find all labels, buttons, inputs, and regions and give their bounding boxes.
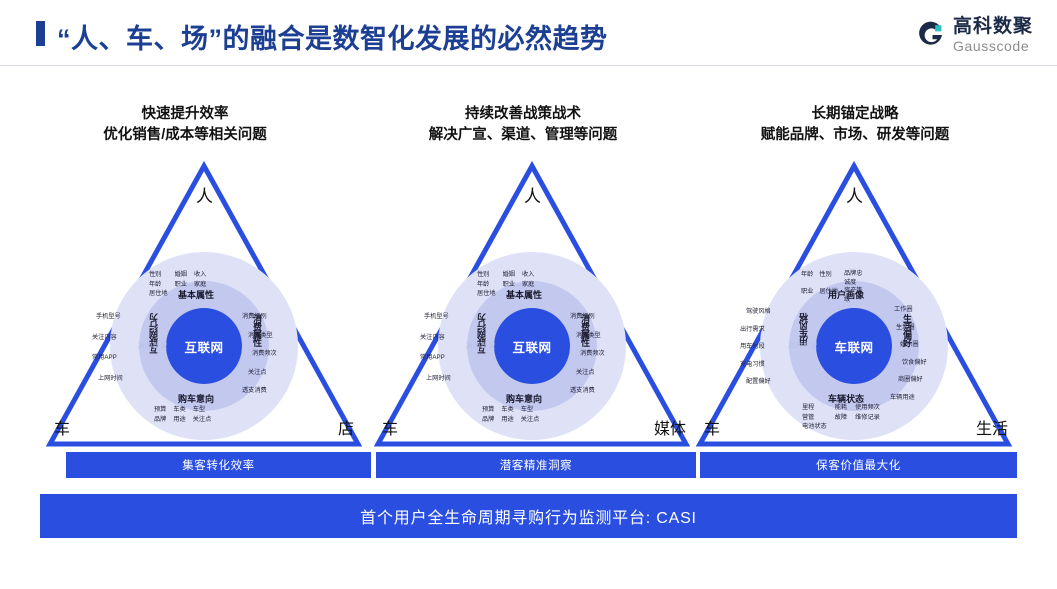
column-heading-1: 快速提升效率 优化销售/成本等相关问题 bbox=[20, 104, 350, 146]
outer-right-2-0: 消费级别 bbox=[570, 312, 605, 322]
outer-left-3-4: 配置偏好 bbox=[746, 377, 771, 387]
sub-bar-2: 潜客精准洞察 bbox=[376, 452, 696, 478]
outer-left-3-2: 用车时段 bbox=[740, 342, 771, 352]
triangle-1-bottom-left-label: 车 bbox=[54, 415, 70, 439]
ring-core-1: 互联网 bbox=[166, 308, 242, 384]
outer-top-1-1: 婚姻 bbox=[175, 270, 187, 280]
core-label-2: 互联网 bbox=[512, 337, 551, 356]
triangle-2-bottom-right-label: 媒体 bbox=[654, 415, 686, 439]
page-title: “人、车、场”的融合是数智化发展的必然趋势 bbox=[57, 17, 608, 56]
triangle-3-bottom-left-label: 车 bbox=[704, 415, 720, 439]
outer-bottom-3-5: 维修记录 bbox=[855, 413, 880, 423]
outer-bottom-2-5: 关注点 bbox=[521, 415, 540, 425]
diagram-panel-3: 人 车 生活 车联网 用户画像 车辆状态 用车风格 生活偏好 高科数聚 年龄 性… bbox=[694, 160, 1014, 450]
outer-top-3-1: 性别 bbox=[819, 270, 838, 287]
column-heading-1-line1: 快速提升效率 bbox=[20, 104, 350, 125]
diagram-panel-2: 人 车 媒体 互联网 基本属性 购车意向 互联网行为 消费属性 高科数聚 性别 … bbox=[372, 160, 692, 450]
column-heading-2-line1: 持续改善战策战术 bbox=[358, 104, 688, 125]
outer-right-3-2: 娱乐圈 bbox=[900, 340, 927, 350]
outer-bottom-labels-1: 预算 车类 车型 品牌 用途 关注点 bbox=[154, 405, 211, 424]
outer-top-labels-2: 性别 婚姻 收入 年龄 职业 家庭 居住地 bbox=[477, 270, 534, 299]
outer-right-1-1: 消费类型 bbox=[248, 331, 277, 341]
triangle-3-bottom-right-label: 生活 bbox=[976, 415, 1008, 439]
platform-banner: 首个用户全生命周期寻购行为监测平台: CASI bbox=[40, 494, 1017, 538]
outer-bottom-1-4: 用途 bbox=[173, 415, 185, 425]
ring-core-3: 车联网 bbox=[816, 308, 892, 384]
outer-top-2-0: 性别 bbox=[477, 270, 496, 280]
outer-bottom-3-1: 能耗 bbox=[835, 403, 847, 413]
triangle-1-apex-label: 人 bbox=[196, 182, 213, 207]
outer-left-3-0: 驾驶风格 bbox=[746, 307, 771, 317]
outer-bottom-2-2: 车型 bbox=[521, 405, 540, 415]
watermark-3: 高科数聚 bbox=[788, 341, 818, 351]
outer-top-3-3: 职业 bbox=[801, 287, 813, 304]
outer-left-2-3: 上网时间 bbox=[426, 374, 451, 384]
column-heading-2: 持续改善战策战术 解决广宣、渠道、管理等问题 bbox=[358, 104, 688, 146]
sub-bar-3: 保客价值最大化 bbox=[700, 452, 1017, 478]
outer-right-3-3: 饮食偏好 bbox=[902, 358, 927, 368]
outer-bottom-3-0: 里程 bbox=[802, 403, 827, 413]
title-bullet-icon bbox=[36, 21, 45, 46]
outer-bottom-3-3: 营管 bbox=[802, 413, 827, 423]
outer-top-3-0: 年龄 bbox=[801, 270, 813, 287]
outer-bottom-1-0: 预算 bbox=[154, 405, 166, 415]
watermark-1: 高科数聚 bbox=[138, 341, 168, 351]
outer-bottom-2-0: 预算 bbox=[482, 405, 494, 415]
brand-logo: 高科数聚 Gausscode bbox=[916, 15, 1033, 55]
ring-bottom-label-1: 购车意向 bbox=[178, 392, 214, 405]
outer-bottom-1-5: 关注点 bbox=[193, 415, 212, 425]
outer-right-labels-2: 消费级别 消费类型 消费频次 关注点 透支消费 bbox=[570, 312, 605, 396]
outer-top-2-5: 家庭 bbox=[522, 280, 534, 290]
outer-left-1-0: 手机型号 bbox=[96, 312, 123, 322]
outer-right-3-5: 车辆用途 bbox=[890, 393, 927, 403]
outer-bottom-labels-2: 预算 车类 车型 品牌 用途 关注点 bbox=[482, 405, 539, 424]
outer-left-1-2: 常用APP bbox=[92, 353, 123, 363]
outer-bottom-2-4: 用途 bbox=[501, 415, 513, 425]
outer-right-1-0: 消费级别 bbox=[242, 312, 277, 322]
outer-top-2-1: 婚姻 bbox=[503, 270, 515, 280]
outer-right-2-2: 消费频次 bbox=[580, 349, 605, 359]
outer-top-3-2: 品牌忠诚度 bbox=[844, 270, 866, 287]
outer-bottom-3-6: 电池状态 bbox=[802, 422, 827, 432]
ring-core-2: 互联网 bbox=[494, 308, 570, 384]
outer-right-1-3: 关注点 bbox=[248, 368, 277, 378]
outer-top-1-3: 年龄 bbox=[149, 280, 168, 290]
header-divider bbox=[0, 65, 1057, 66]
outer-left-labels-1: 手机型号 关注内容 常用APP 上网时间 bbox=[92, 312, 123, 383]
core-label-3: 车联网 bbox=[834, 337, 873, 356]
triangle-2-bottom-left-label: 车 bbox=[382, 415, 398, 439]
outer-top-1-0: 性别 bbox=[149, 270, 168, 280]
page-header: “人、车、场”的融合是数智化发展的必然趋势 高科数聚 Gausscode bbox=[0, 0, 1057, 66]
logo-text-en: Gausscode bbox=[953, 39, 1033, 53]
column-heading-3-line1: 长期锚定战略 bbox=[690, 104, 1020, 125]
outer-right-labels-1: 消费级别 消费类型 消费频次 关注点 透支消费 bbox=[242, 312, 277, 396]
column-heading-2-line2: 解决广宣、渠道、管理等问题 bbox=[358, 125, 688, 146]
outer-left-3-1: 出行需求 bbox=[740, 325, 771, 335]
outer-bottom-1-1: 车类 bbox=[173, 405, 185, 415]
outer-top-2-3: 年龄 bbox=[477, 280, 496, 290]
column-heading-3-line2: 赋能品牌、市场、研发等问题 bbox=[690, 125, 1020, 146]
gausscode-logo-icon bbox=[916, 20, 946, 50]
outer-top-2-6: 居住地 bbox=[477, 289, 496, 299]
logo-text-cn: 高科数聚 bbox=[953, 17, 1033, 36]
outer-top-1-4: 职业 bbox=[175, 280, 187, 290]
outer-bottom-2-1: 车类 bbox=[501, 405, 513, 415]
outer-top-1-2: 收入 bbox=[194, 270, 206, 280]
outer-right-2-1: 消费类型 bbox=[576, 331, 605, 341]
outer-left-2-2: 常用APP bbox=[420, 353, 451, 363]
outer-left-1-1: 关注内容 bbox=[92, 333, 123, 343]
outer-bottom-2-3: 品牌 bbox=[482, 415, 494, 425]
outer-left-labels-2: 手机型号 关注内容 常用APP 上网时间 bbox=[420, 312, 451, 383]
outer-top-1-6: 居住地 bbox=[149, 289, 168, 299]
outer-right-2-3: 关注点 bbox=[576, 368, 605, 378]
watermark-2: 高科数聚 bbox=[466, 341, 496, 351]
outer-right-1-4: 透支消费 bbox=[242, 386, 277, 396]
core-label-1: 互联网 bbox=[184, 337, 223, 356]
outer-left-labels-3: 驾驶风格 出行需求 用车时段 充电习惯 配置偏好 bbox=[740, 307, 771, 387]
outer-top-2-4: 职业 bbox=[503, 280, 515, 290]
outer-bottom-3-4: 故障 bbox=[835, 413, 847, 423]
outer-right-3-0: 工作圈 bbox=[894, 305, 927, 315]
outer-left-3-3: 充电习惯 bbox=[740, 360, 771, 370]
outer-right-1-2: 消费频次 bbox=[252, 349, 277, 359]
sub-bar-1: 集客转化效率 bbox=[66, 452, 371, 478]
outer-left-2-0: 手机型号 bbox=[424, 312, 451, 322]
outer-top-1-5: 家庭 bbox=[194, 280, 206, 290]
triangle-2-apex-label: 人 bbox=[524, 182, 541, 207]
column-heading-1-line2: 优化销售/成本等相关问题 bbox=[20, 125, 350, 146]
outer-bottom-1-3: 品牌 bbox=[154, 415, 166, 425]
outer-right-2-4: 透支消费 bbox=[570, 386, 605, 396]
outer-bottom-3-2: 使用频次 bbox=[855, 403, 880, 413]
column-heading-3: 长期锚定战略 赋能品牌、市场、研发等问题 bbox=[690, 104, 1020, 146]
outer-left-1-3: 上网时间 bbox=[98, 374, 123, 384]
outer-bottom-1-2: 车型 bbox=[193, 405, 212, 415]
outer-bottom-labels-3: 里程 能耗 使用频次 营管 故障 维修记录 电池状态 bbox=[802, 403, 880, 432]
outer-top-3-5: 资产等级 bbox=[844, 287, 866, 304]
triangle-1-bottom-right-label: 店 bbox=[338, 415, 354, 439]
outer-top-3-4: 居住地 bbox=[819, 287, 838, 304]
outer-right-labels-3: 工作圈 生活圈 娱乐圈 饮食偏好 商圈偏好 车辆用途 bbox=[890, 305, 927, 403]
outer-top-labels-3: 年龄 性别 品牌忠诚度 职业 居住地 资产等级 bbox=[801, 270, 866, 305]
outer-top-2-2: 收入 bbox=[522, 270, 534, 280]
outer-left-2-1: 关注内容 bbox=[420, 333, 451, 343]
outer-right-3-1: 生活圈 bbox=[896, 323, 927, 333]
triangle-3-apex-label: 人 bbox=[846, 182, 863, 207]
ring-bottom-label-2: 购车意向 bbox=[506, 392, 542, 405]
diagram-panel-1: 人 车 店 互联网 基本属性 购车意向 互联网行为 消费属性 高科数聚 性别 婚… bbox=[44, 160, 364, 450]
outer-top-labels-1: 性别 婚姻 收入 年龄 职业 家庭 居住地 bbox=[149, 270, 206, 299]
outer-right-3-4: 商圈偏好 bbox=[898, 375, 927, 385]
